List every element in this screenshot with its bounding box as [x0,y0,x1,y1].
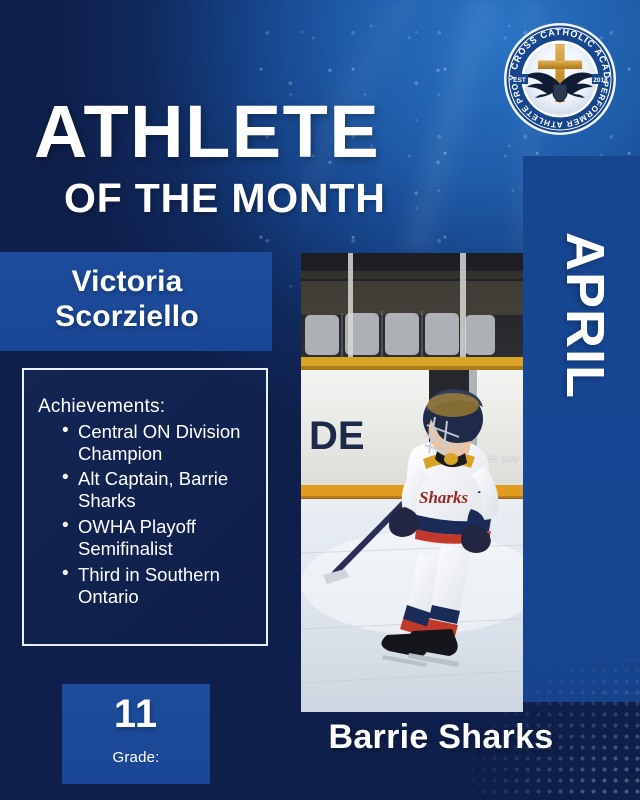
boards-text: DE [309,414,365,458]
achievement-item: OWHA Playoff Semifinalist [62,516,256,560]
achievement-item: Third in Southern Ontario [62,564,256,608]
jersey-team-text: Sharks [419,488,469,507]
grade-box: 11 Grade: [62,684,210,784]
headline-main: ATHLETE [34,98,386,166]
achievement-item: Central ON Division Champion [62,421,256,465]
month-label: APRIL [558,232,612,399]
grade-value: 11 [62,694,210,734]
headline-group: ATHLETE OF THE MONTH [34,98,386,219]
achievements-title: Achievements: [38,396,256,419]
school-crest-logo: EST 2018 HOLY CROSS CATHOLIC ACADEMY HIG… [503,22,617,136]
achievement-item: Alt Captain, Barrie Sharks [62,468,256,512]
athlete-name: VictoriaScorziello [0,264,254,335]
athlete-of-the-month-poster: APRIL [0,0,640,800]
grade-label: Grade: [62,750,210,765]
athlete-photo: DE THE SW [301,253,523,712]
headline-sub: OF THE MONTH [64,178,386,219]
achievements-box: Achievements: Central ON Division Champi… [22,368,268,646]
athlete-name-band: VictoriaScorziello [0,252,272,351]
team-name: Barrie Sharks [301,718,581,757]
achievements-list: Central ON Division ChampionAlt Captain,… [38,421,256,608]
